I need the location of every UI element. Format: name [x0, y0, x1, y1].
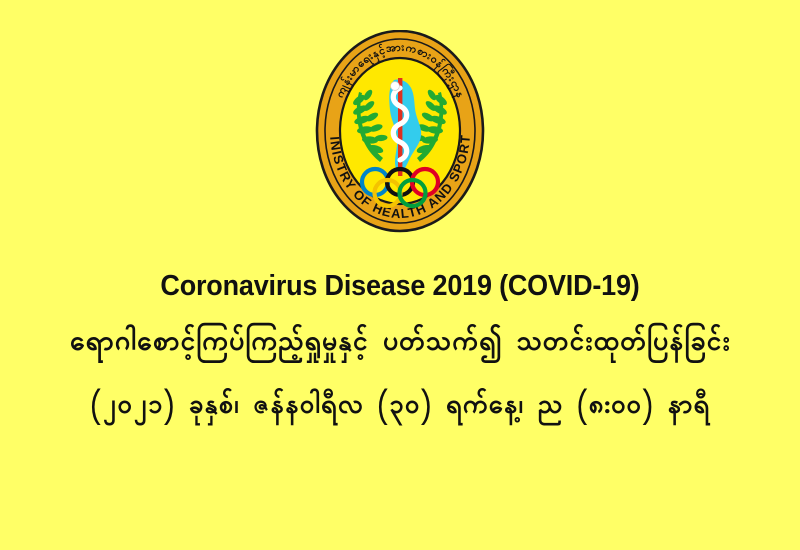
ministry-seal-svg: ကျန်းမာရေးနှင့်အားကစားဝန်ကြီးဌာန MINISTR…	[315, 30, 485, 233]
serpent-head	[391, 82, 400, 91]
announcement-page: ကျန်းမာရေးနှင့်အားကစားဝန်ကြီးဌာန MINISTR…	[0, 0, 800, 550]
page-datetime-burmese: (၂၀၂၁) ခုနှစ်၊ ဇန်နဝါရီလ (၃၀) ရက်နေ့၊ ည …	[0, 389, 800, 425]
ministry-seal-logo: ကျန်းမာရေးနှင့်အားကစားဝန်ကြီးဌာန MINISTR…	[315, 30, 485, 233]
headline-block: Coronavirus Disease 2019 (COVID-19) ရောဂ…	[0, 271, 800, 425]
page-title-english: Coronavirus Disease 2019 (COVID-19)	[28, 271, 772, 303]
page-subtitle-burmese: ရောဂါစောင့်ကြပ်ကြည့်ရှုမှုနှင့် ပတ်သက်၍ …	[0, 325, 800, 363]
